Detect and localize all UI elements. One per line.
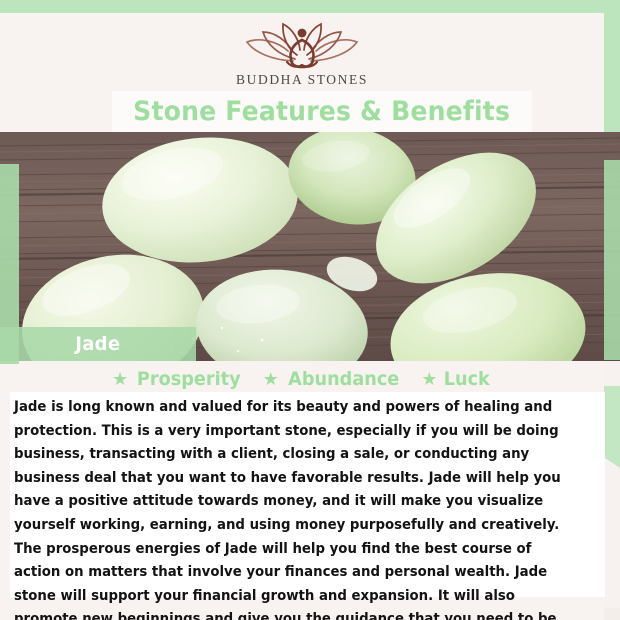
benefit-label: Abundance [288, 368, 399, 390]
title-banner: Stone Features & Benefits [112, 91, 532, 132]
infographic-card: BUDDHA STONES Stone Features & Benefits [0, 0, 620, 620]
benefit-item-abundance: ★ Abundance [263, 368, 404, 390]
page-title: Stone Features & Benefits [134, 96, 511, 127]
benefit-label: Luck [444, 368, 490, 390]
stone-name-label: Jade [75, 333, 120, 355]
benefits-row: ★ Prosperity ★ Abundance ★ Luck [0, 366, 604, 392]
benefit-item-prosperity: ★ Prosperity [112, 368, 245, 390]
star-icon: ★ [421, 370, 437, 388]
description-text: Jade is long known and valued for its be… [14, 396, 565, 620]
brand-wordmark: BUDDHA STONES [236, 72, 368, 88]
green-backdrop-right [603, 0, 620, 140]
benefit-item-luck: ★ Luck [421, 368, 492, 390]
stone-name-band: Jade [0, 327, 196, 361]
star-icon: ★ [112, 370, 128, 388]
benefit-label: Prosperity [137, 368, 241, 390]
brand-logo: BUDDHA STONES [0, 13, 604, 90]
lotus-meditation-figure-icon [243, 17, 361, 69]
green-right-accent-strip [604, 160, 620, 360]
star-icon: ★ [263, 370, 279, 388]
